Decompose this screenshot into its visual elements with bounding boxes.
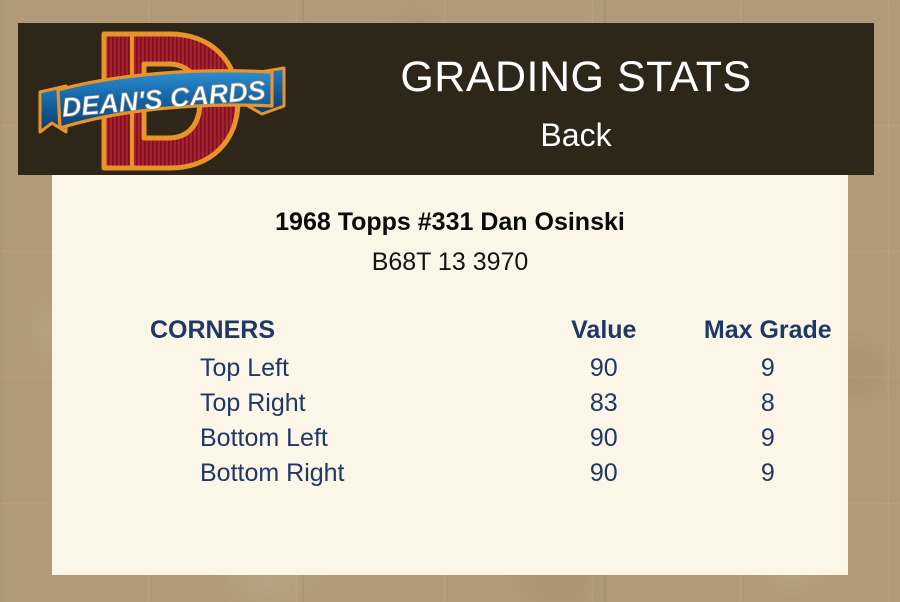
card-title: 1968 Topps #331 Dan Osinski <box>52 207 848 237</box>
column-header-corners: CORNERS <box>150 313 522 351</box>
row-label: Bottom Right <box>150 456 522 491</box>
content-panel: 1968 Topps #331 Dan Osinski B68T 13 3970… <box>52 175 848 575</box>
table-row: Bottom Left 90 9 <box>150 421 850 456</box>
row-label: Top Right <box>150 386 522 421</box>
table-row: Top Left 90 9 <box>150 351 850 386</box>
column-header-max-grade: Max Grade <box>686 313 850 351</box>
row-max-grade: 9 <box>686 351 850 386</box>
logo-banner-ribbon: DEAN'S CARDS <box>36 66 292 142</box>
column-header-value: Value <box>522 313 686 351</box>
row-value: 83 <box>522 386 686 421</box>
page-subtitle: Back <box>292 116 860 154</box>
row-max-grade: 9 <box>686 456 850 491</box>
row-max-grade: 9 <box>686 421 850 456</box>
table-row: Bottom Right 90 9 <box>150 456 850 491</box>
row-max-grade: 8 <box>686 386 850 421</box>
row-label: Bottom Left <box>150 421 522 456</box>
row-value: 90 <box>522 351 686 386</box>
deans-cards-logo[interactable]: DEAN'S CARDS <box>36 26 292 174</box>
page-title: GRADING STATS <box>292 52 860 102</box>
card-subtitle: B68T 13 3970 <box>52 247 848 277</box>
row-value: 90 <box>522 421 686 456</box>
row-value: 90 <box>522 456 686 491</box>
table-header-row: CORNERS Value Max Grade <box>150 313 850 351</box>
table-row: Top Right 83 8 <box>150 386 850 421</box>
row-label: Top Left <box>150 351 522 386</box>
grading-stats-page: DEAN'S CARDS GRADING STATS Back 1968 Top… <box>0 0 900 602</box>
grading-stats-table: CORNERS Value Max Grade Top Left 90 9 To… <box>150 313 850 491</box>
